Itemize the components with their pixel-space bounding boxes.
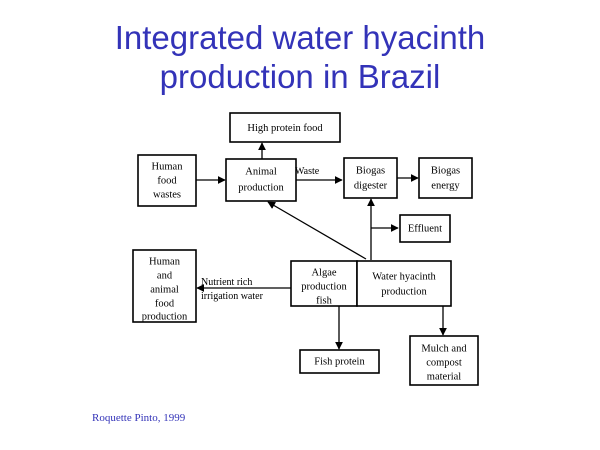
node-biogas-energy[interactable]: Biogas energy <box>419 158 472 198</box>
node-effluent[interactable]: Effluent <box>400 215 450 242</box>
slide-canvas: Integrated water hyacinth production in … <box>0 0 600 450</box>
node-label-line-1: Biogas <box>356 165 385 176</box>
node-label-line-1: Human <box>149 256 181 267</box>
node-mulch-compost[interactable]: Mulch and compost material <box>410 336 478 385</box>
node-box <box>226 159 296 201</box>
node-label-line-1: Animal <box>245 166 277 177</box>
node-high-protein-food[interactable]: High protein food <box>230 113 340 142</box>
node-label-line-1: Water hyacinth <box>372 271 436 282</box>
node-label-line-2: energy <box>431 180 460 191</box>
node-label-line-2: production <box>301 281 347 292</box>
node-label-line-2: digester <box>354 180 388 191</box>
node-label-line-1: Algae <box>311 267 336 278</box>
node-label-line-2: production <box>381 286 427 297</box>
node-label-line-2: compost <box>426 357 462 368</box>
node-label-line-5: production <box>142 311 188 322</box>
node-box <box>419 158 472 198</box>
node-label: Effluent <box>408 223 442 234</box>
source-credit: Roquette Pinto, 1999 <box>92 412 185 425</box>
node-human-animal-food-production[interactable]: Human and animal food production <box>133 250 196 322</box>
node-water-hyacinth-production[interactable]: Water hyacinth production <box>357 261 451 306</box>
edge-waterhyacinth-to-animalproduction <box>268 202 366 259</box>
node-label-line-4: food <box>155 298 175 309</box>
node-label: High protein food <box>247 123 323 134</box>
node-biogas-digester[interactable]: Biogas digester <box>344 158 397 198</box>
edge-label-nutrient-line-2: irrigation water <box>201 291 264 302</box>
node-label-line-3: fish <box>316 295 333 306</box>
node-animal-production[interactable]: Animal production <box>226 159 296 201</box>
node-label-line-2: and <box>157 270 173 281</box>
node-label-line-1: Human <box>152 161 184 172</box>
node-algae-production-fish[interactable]: Algae production fish <box>291 261 357 306</box>
flow-diagram: High protein food Human food wastes Anim… <box>0 0 600 450</box>
node-fish-protein[interactable]: Fish protein <box>300 350 379 373</box>
node-box <box>357 261 451 306</box>
node-label: Fish protein <box>314 356 365 367</box>
node-label-line-1: Biogas <box>431 165 460 176</box>
node-label-line-3: animal <box>150 284 179 295</box>
node-label-line-3: wastes <box>153 189 181 200</box>
node-human-food-wastes[interactable]: Human food wastes <box>138 155 196 206</box>
edge-label-waste: Waste <box>295 166 320 177</box>
node-label-line-1: Mulch and <box>421 343 467 354</box>
edge-label-nutrient-line-1: Nutrient rich <box>201 277 252 288</box>
node-label-line-2: production <box>238 182 284 193</box>
node-box <box>344 158 397 198</box>
node-label-line-3: material <box>427 371 461 382</box>
node-label-line-2: food <box>157 175 177 186</box>
